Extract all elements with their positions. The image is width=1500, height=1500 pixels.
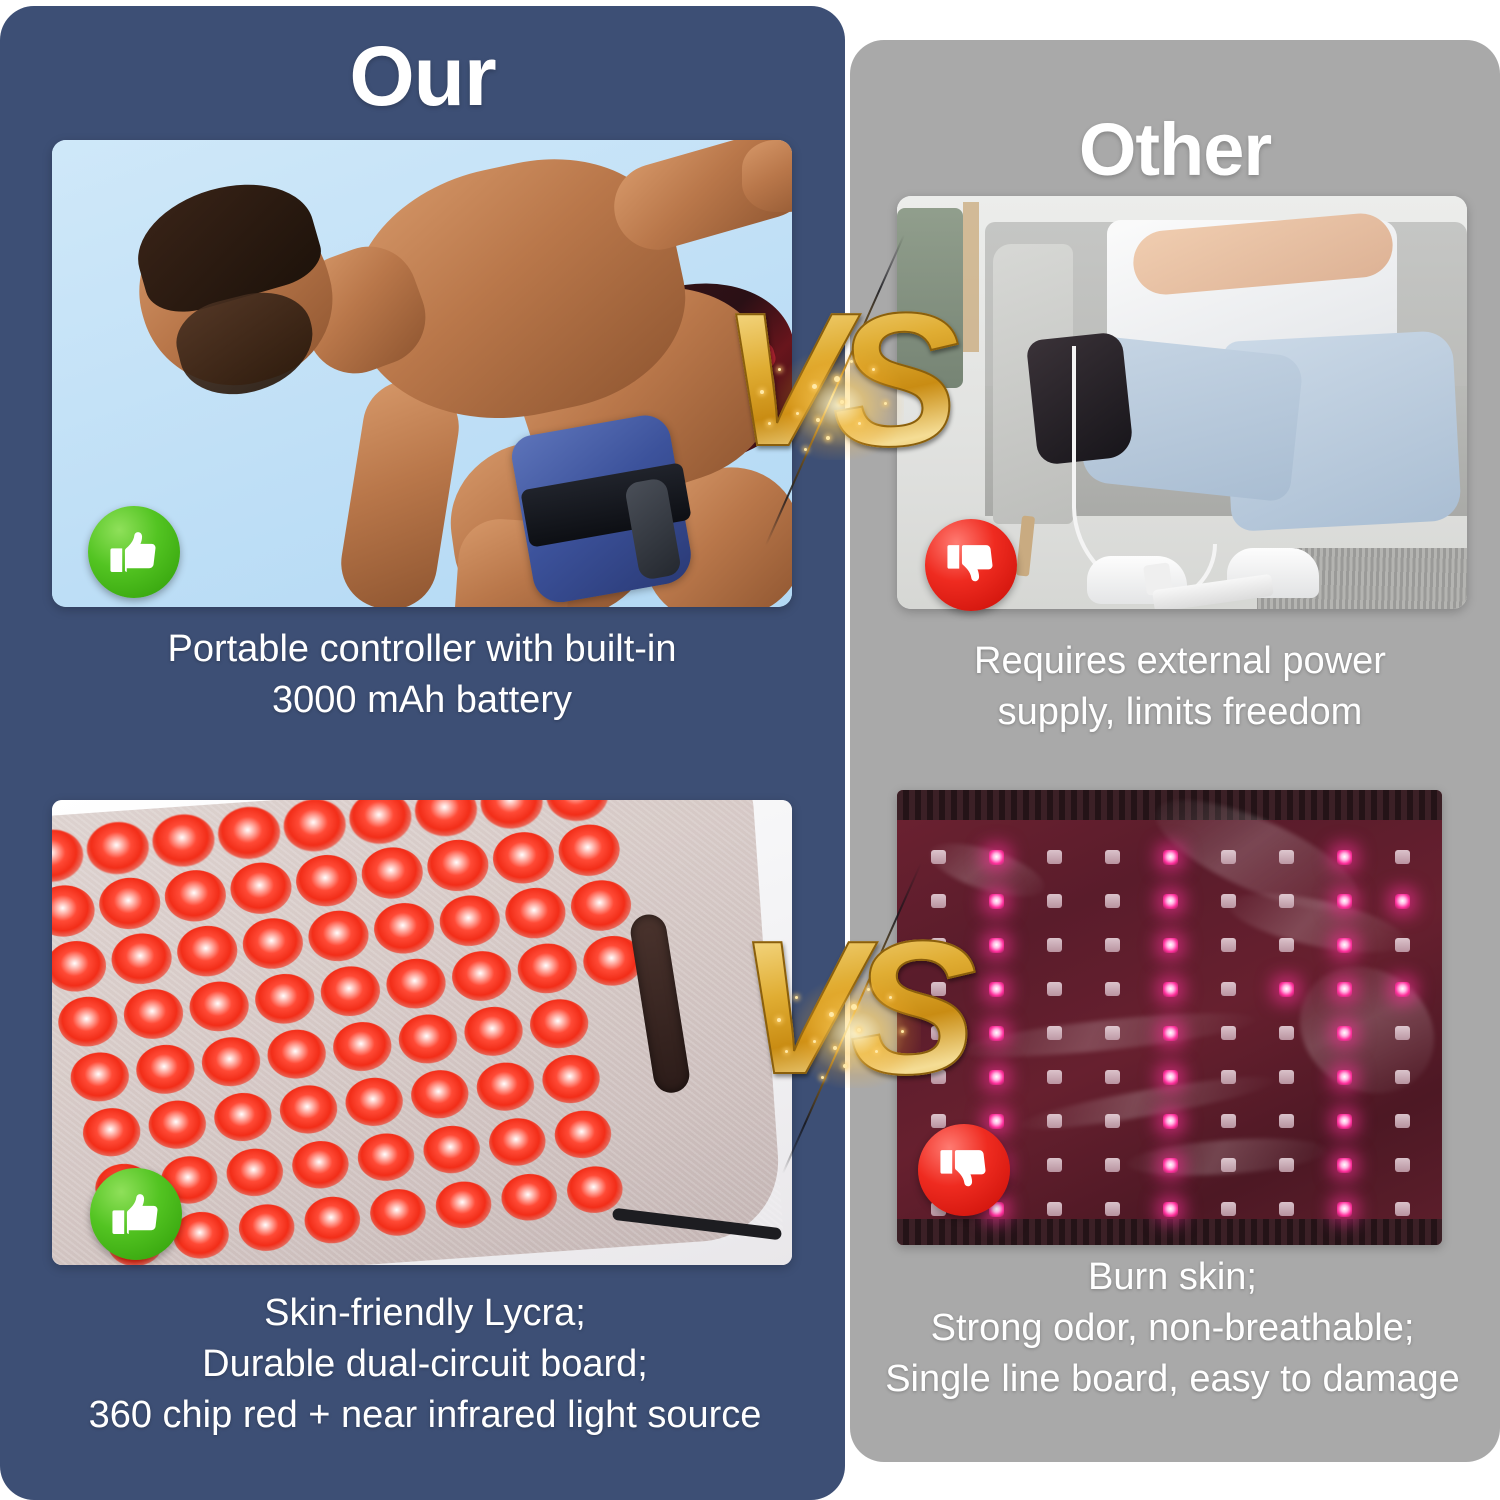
vs-sparkle xyxy=(768,422,771,425)
pink-led-off xyxy=(1395,1070,1410,1084)
pink-led-off xyxy=(1105,1114,1120,1128)
pink-led-on xyxy=(989,1026,1004,1041)
pink-led-off xyxy=(1221,1158,1236,1172)
pink-led-off xyxy=(1047,1070,1062,1084)
pink-led-off xyxy=(1395,850,1410,864)
other-panel-heading: Other xyxy=(850,108,1500,192)
caption-line: Burn skin; xyxy=(860,1252,1485,1303)
vs-sparkle xyxy=(884,402,887,405)
vs-sparkle xyxy=(834,376,840,382)
pink-led-off xyxy=(1279,1114,1294,1128)
pink-led-on xyxy=(1163,982,1178,997)
pink-led-off xyxy=(1105,894,1120,908)
pink-led-on xyxy=(1279,982,1294,997)
caption-line: Single line board, easy to damage xyxy=(860,1354,1485,1405)
pink-led-off xyxy=(1105,850,1120,864)
vs-sparkle xyxy=(816,418,820,422)
background-post xyxy=(963,202,979,352)
caption-line: Requires external power xyxy=(890,636,1470,687)
other-top-caption: Requires external power supply, limits f… xyxy=(890,636,1470,738)
vs-sparkle xyxy=(812,384,817,389)
pink-led-off xyxy=(1105,1026,1120,1040)
pink-led-off xyxy=(1047,1202,1062,1216)
vs-clash-icon: VS xyxy=(725,900,975,1130)
caption-line: Skin-friendly Lycra; xyxy=(30,1288,820,1339)
vs-sparkle xyxy=(875,1050,878,1053)
pink-led-off xyxy=(1047,850,1062,864)
pink-led-off xyxy=(1221,894,1236,908)
vs-sparkle xyxy=(826,436,830,440)
vs-sparkle xyxy=(901,1030,904,1033)
vs-label: VS xyxy=(725,900,975,1130)
vs-sparkle xyxy=(829,1012,834,1017)
pink-led-on xyxy=(989,850,1004,865)
pink-led-off xyxy=(1395,1114,1410,1128)
pink-led-on xyxy=(989,982,1004,997)
pink-led-on xyxy=(1337,1202,1352,1217)
pink-led-off xyxy=(1047,938,1062,952)
vs-label: VS xyxy=(708,272,958,502)
pink-led-on xyxy=(1337,1026,1352,1041)
pink-led-on xyxy=(1337,1158,1352,1173)
athlete-hand xyxy=(742,140,792,212)
pink-led-off xyxy=(1047,1114,1062,1128)
vs-sparkle xyxy=(851,1004,857,1010)
pink-led-off xyxy=(1221,1114,1236,1128)
caption-line: 360 chip red + near infrared light sourc… xyxy=(30,1390,820,1441)
thumbs-down-icon xyxy=(918,1124,1010,1216)
pink-led-on xyxy=(1337,894,1352,909)
pink-led-on xyxy=(1337,1114,1352,1129)
pink-led-off xyxy=(1395,1026,1410,1040)
pink-led-on xyxy=(1395,894,1410,909)
pink-led-on xyxy=(1163,894,1178,909)
caption-line: 3000 mAh battery xyxy=(52,675,792,726)
vs-sparkle xyxy=(872,368,875,371)
pink-led-on xyxy=(1163,1114,1178,1129)
vs-sparkle xyxy=(833,1046,837,1050)
vs-clash-icon: VS xyxy=(708,272,958,502)
vs-sparkle xyxy=(804,448,807,451)
other-bottom-caption: Burn skin; Strong odor, non-breathable; … xyxy=(860,1252,1485,1405)
pink-led-off xyxy=(1279,1158,1294,1172)
pink-led-on xyxy=(1163,1070,1178,1085)
pink-led-off xyxy=(1395,1202,1410,1216)
thumbs-up-icon xyxy=(88,506,180,598)
pink-led-off xyxy=(1047,1026,1062,1040)
comparison-infographic: Our Portable controller with built-in 30… xyxy=(0,0,1500,1500)
our-panel-heading: Our xyxy=(0,28,845,124)
caption-line: Strong odor, non-breathable; xyxy=(860,1303,1485,1354)
pink-led-on xyxy=(1337,938,1352,953)
pink-led-on xyxy=(1163,1026,1178,1041)
pink-led-on xyxy=(1163,850,1178,865)
vs-sparkle xyxy=(795,996,798,999)
vs-sparkle xyxy=(821,1076,824,1079)
caption-line: supply, limits freedom xyxy=(890,687,1470,738)
pink-led-off xyxy=(1221,938,1236,952)
vs-sparkle xyxy=(760,390,764,394)
pink-led-off xyxy=(1279,1070,1294,1084)
pink-led-off xyxy=(1279,938,1294,952)
pink-led-on xyxy=(1395,982,1410,997)
pink-led-off xyxy=(1105,982,1120,996)
our-top-caption: Portable controller with built-in 3000 m… xyxy=(52,624,792,726)
pink-led-off xyxy=(1395,1158,1410,1172)
pink-led-off xyxy=(1279,894,1294,908)
vs-sparkle xyxy=(867,988,870,991)
pink-led-off xyxy=(1221,1202,1236,1216)
pink-led-off xyxy=(1221,982,1236,996)
caption-line: Durable dual-circuit board; xyxy=(30,1339,820,1390)
caption-line: Portable controller with built-in xyxy=(52,624,792,675)
pink-led-off xyxy=(1105,938,1120,952)
pink-led-off xyxy=(1221,1026,1236,1040)
vs-sparkle xyxy=(889,996,892,999)
pink-led-on xyxy=(989,1070,1004,1085)
vs-sparkle xyxy=(840,400,844,404)
pink-led-off xyxy=(1105,1158,1120,1172)
vs-sparkle xyxy=(778,368,781,371)
vs-sparkle xyxy=(850,360,853,363)
pink-led-on xyxy=(1163,938,1178,953)
vs-sparkle xyxy=(813,1040,816,1043)
pink-led-on xyxy=(1163,1158,1178,1173)
pink-led-on xyxy=(989,1114,1004,1129)
pink-led-off xyxy=(1105,1070,1120,1084)
pink-led-off xyxy=(1047,1158,1062,1172)
pink-led-off xyxy=(1047,982,1062,996)
pink-led-off xyxy=(1105,1202,1120,1216)
pink-led-on xyxy=(1337,1070,1352,1085)
wrap-bottom-seam xyxy=(897,1219,1442,1245)
pink-led-on xyxy=(1337,982,1352,997)
pink-led-off xyxy=(1221,1070,1236,1084)
pink-led-on xyxy=(989,938,1004,953)
pink-led-off xyxy=(1279,1202,1294,1216)
vs-sparkle xyxy=(785,1050,788,1053)
vs-sparkle xyxy=(777,1018,781,1022)
thumbs-down-icon xyxy=(925,519,1017,611)
pink-led-off xyxy=(1221,850,1236,864)
pink-led-on xyxy=(989,894,1004,909)
pink-led-off xyxy=(1279,1026,1294,1040)
pink-led-on xyxy=(1163,1202,1178,1217)
pink-led-off xyxy=(1395,938,1410,952)
pink-led-off xyxy=(931,850,946,864)
vs-sparkle xyxy=(843,1064,847,1068)
thumbs-up-icon xyxy=(90,1168,182,1260)
vs-sparkle xyxy=(796,412,799,415)
our-bottom-caption: Skin-friendly Lycra; Durable dual-circui… xyxy=(30,1288,820,1441)
pink-led-off xyxy=(1047,894,1062,908)
pink-led-on xyxy=(1337,850,1352,865)
pink-led-off xyxy=(1279,850,1294,864)
vs-sparkle xyxy=(858,422,861,425)
vs-sparkle xyxy=(857,1028,861,1032)
